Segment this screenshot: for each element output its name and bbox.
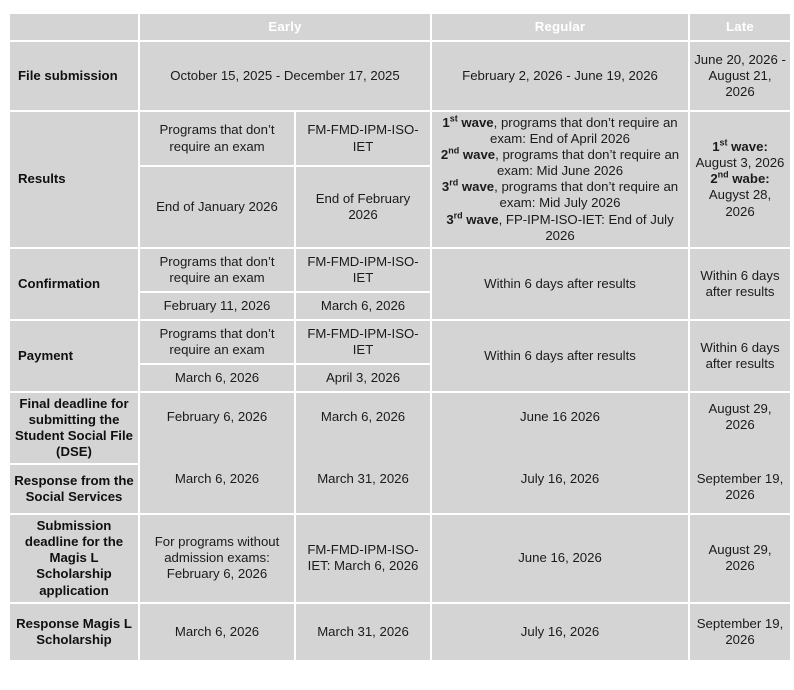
dse-late-spacer (694, 433, 786, 471)
cell-file-submission-regular: February 2, 2026 - June 19, 2026 (432, 42, 688, 110)
column-header-regular: Regular (432, 14, 688, 40)
dse-early-a-spacer (144, 425, 290, 471)
cell-confirmation-early-a-head: Programs that don’t require an exam (140, 249, 294, 291)
cell-results-early-b-head: FM-FMD-IPM-ISO-IET (296, 112, 430, 165)
results-late-wave2-label: 2nd wabe: (710, 171, 769, 186)
row-label-confirmation: Confirmation (10, 249, 138, 319)
table-row-dse-submit: Final deadline for submitting the Studen… (10, 393, 790, 463)
table-row-magis-submit: Submission deadline for the Magis L Scho… (10, 515, 790, 601)
cell-results-early-b-value: End of February 2026 (296, 167, 430, 247)
cell-file-submission-early: October 15, 2025 - December 17, 2025 (140, 42, 430, 110)
cell-magis-response-early-a: March 6, 2026 (140, 604, 294, 660)
cell-dse-response-late: September 19, 2026 (694, 471, 786, 503)
row-label-results: Results (10, 112, 138, 247)
cell-dse-submit-regular: June 16 2026 (436, 409, 684, 425)
table-row-confirmation-heads: Confirmation Programs that don’t require… (10, 249, 790, 291)
results-regular-line4-bold: 3rd wave (446, 212, 498, 227)
cell-magis-submit-late: August 29, 2026 (690, 515, 790, 601)
cell-magis-response-early-b: March 31, 2026 (296, 604, 430, 660)
results-regular-line1-bold: 1st wave (442, 115, 493, 130)
cell-dse-response-regular: July 16, 2026 (436, 471, 684, 487)
cell-dse-response-early-b: March 31, 2026 (300, 471, 426, 487)
cell-magis-submit-early-b: FM-FMD-IPM-ISO-IET: March 6, 2026 (296, 515, 430, 601)
cell-dse-early-b-group: March 6, 2026 March 31, 2026 (296, 393, 430, 513)
cell-magis-submit-early-a: For programs without admission exams: Fe… (140, 515, 294, 601)
results-regular-line2-text: , programs that don’t require an exam: M… (495, 147, 679, 178)
cell-magis-response-late: September 19, 2026 (690, 604, 790, 660)
cell-results-early-a-head: Programs that don’t require an exam (140, 112, 294, 165)
cell-results-early-a-value: End of January 2026 (140, 167, 294, 247)
cell-payment-early-b-head: FM-FMD-IPM-ISO-IET (296, 321, 430, 363)
admission-calendar-table: Early Regular Late File submission Octob… (8, 12, 792, 662)
cell-confirmation-early-b-value: March 6, 2026 (296, 293, 430, 319)
column-header-late: Late (690, 14, 790, 40)
cell-payment-regular: Within 6 days after results (432, 321, 688, 391)
row-label-magis-submit: Submission deadline for the Magis L Scho… (10, 515, 138, 601)
results-regular-line4-text: , FP-IPM-ISO-IET: End of July 2026 (499, 212, 674, 243)
cell-dse-submit-early-a: February 6, 2026 (144, 409, 290, 425)
cell-dse-regular-group: June 16 2026 July 16, 2026 (432, 393, 688, 513)
cell-results-late: 1st wave: August 3, 2026 2nd wabe: Augys… (690, 112, 790, 247)
header-corner-blank (10, 14, 138, 40)
cell-payment-early-b-value: April 3, 2026 (296, 365, 430, 391)
dse-regular-spacer (436, 425, 684, 471)
cell-payment-late: Within 6 days after results (690, 321, 790, 391)
cell-magis-submit-regular: June 16, 2026 (432, 515, 688, 601)
cell-confirmation-early-b-head: FM-FMD-IPM-ISO-IET (296, 249, 430, 291)
table-header-row: Early Regular Late (10, 14, 790, 40)
row-label-dse-response: Response from the Social Services (10, 465, 138, 513)
cell-results-regular: 1st wave, programs that don’t require an… (432, 112, 688, 247)
cell-dse-submit-late: August 29, 2026 (694, 401, 786, 433)
results-late-wave1-label: 1st wave: (712, 139, 768, 154)
cell-payment-early-a-value: March 6, 2026 (140, 365, 294, 391)
table-row-file-submission: File submission October 15, 2025 - Decem… (10, 42, 790, 110)
results-regular-line1-text: , programs that don’t require an exam: E… (490, 115, 678, 146)
table-row-payment-heads: Payment Programs that don’t require an e… (10, 321, 790, 363)
row-label-magis-response: Response Magis L Scholarship (10, 604, 138, 660)
cell-confirmation-late: Within 6 days after results (690, 249, 790, 319)
table-row-results-heads: Results Programs that don’t require an e… (10, 112, 790, 165)
cell-dse-response-early-a: March 6, 2026 (144, 471, 290, 487)
results-regular-line3-bold: 3rd wave (442, 179, 494, 194)
results-regular-line2-bold: 2nd wave (441, 147, 495, 162)
cell-dse-early-a-group: February 6, 2026 March 6, 2026 (140, 393, 294, 513)
admission-calendar-sheet: Early Regular Late File submission Octob… (0, 0, 794, 690)
results-late-wave1-value: August 3, 2026 (696, 155, 785, 170)
row-label-dse-submit: Final deadline for submitting the Studen… (10, 393, 138, 463)
results-late-wave2-value: Augyst 28, 2026 (709, 187, 771, 218)
cell-payment-early-a-head: Programs that don’t require an exam (140, 321, 294, 363)
cell-magis-response-regular: July 16, 2026 (432, 604, 688, 660)
row-label-payment: Payment (10, 321, 138, 391)
cell-dse-late-group: August 29, 2026 September 19, 2026 (690, 393, 790, 513)
cell-dse-submit-early-b: March 6, 2026 (300, 409, 426, 425)
dse-early-b-spacer (300, 425, 426, 471)
results-regular-line3-text: , programs that don’t require an exam: M… (494, 179, 678, 210)
cell-confirmation-regular: Within 6 days after results (432, 249, 688, 319)
cell-confirmation-early-a-value: February 11, 2026 (140, 293, 294, 319)
column-header-early: Early (140, 14, 430, 40)
row-label-file-submission: File submission (10, 42, 138, 110)
cell-file-submission-late: June 20, 2026 - August 21, 2026 (690, 42, 790, 110)
table-row-magis-response: Response Magis L Scholarship March 6, 20… (10, 604, 790, 660)
